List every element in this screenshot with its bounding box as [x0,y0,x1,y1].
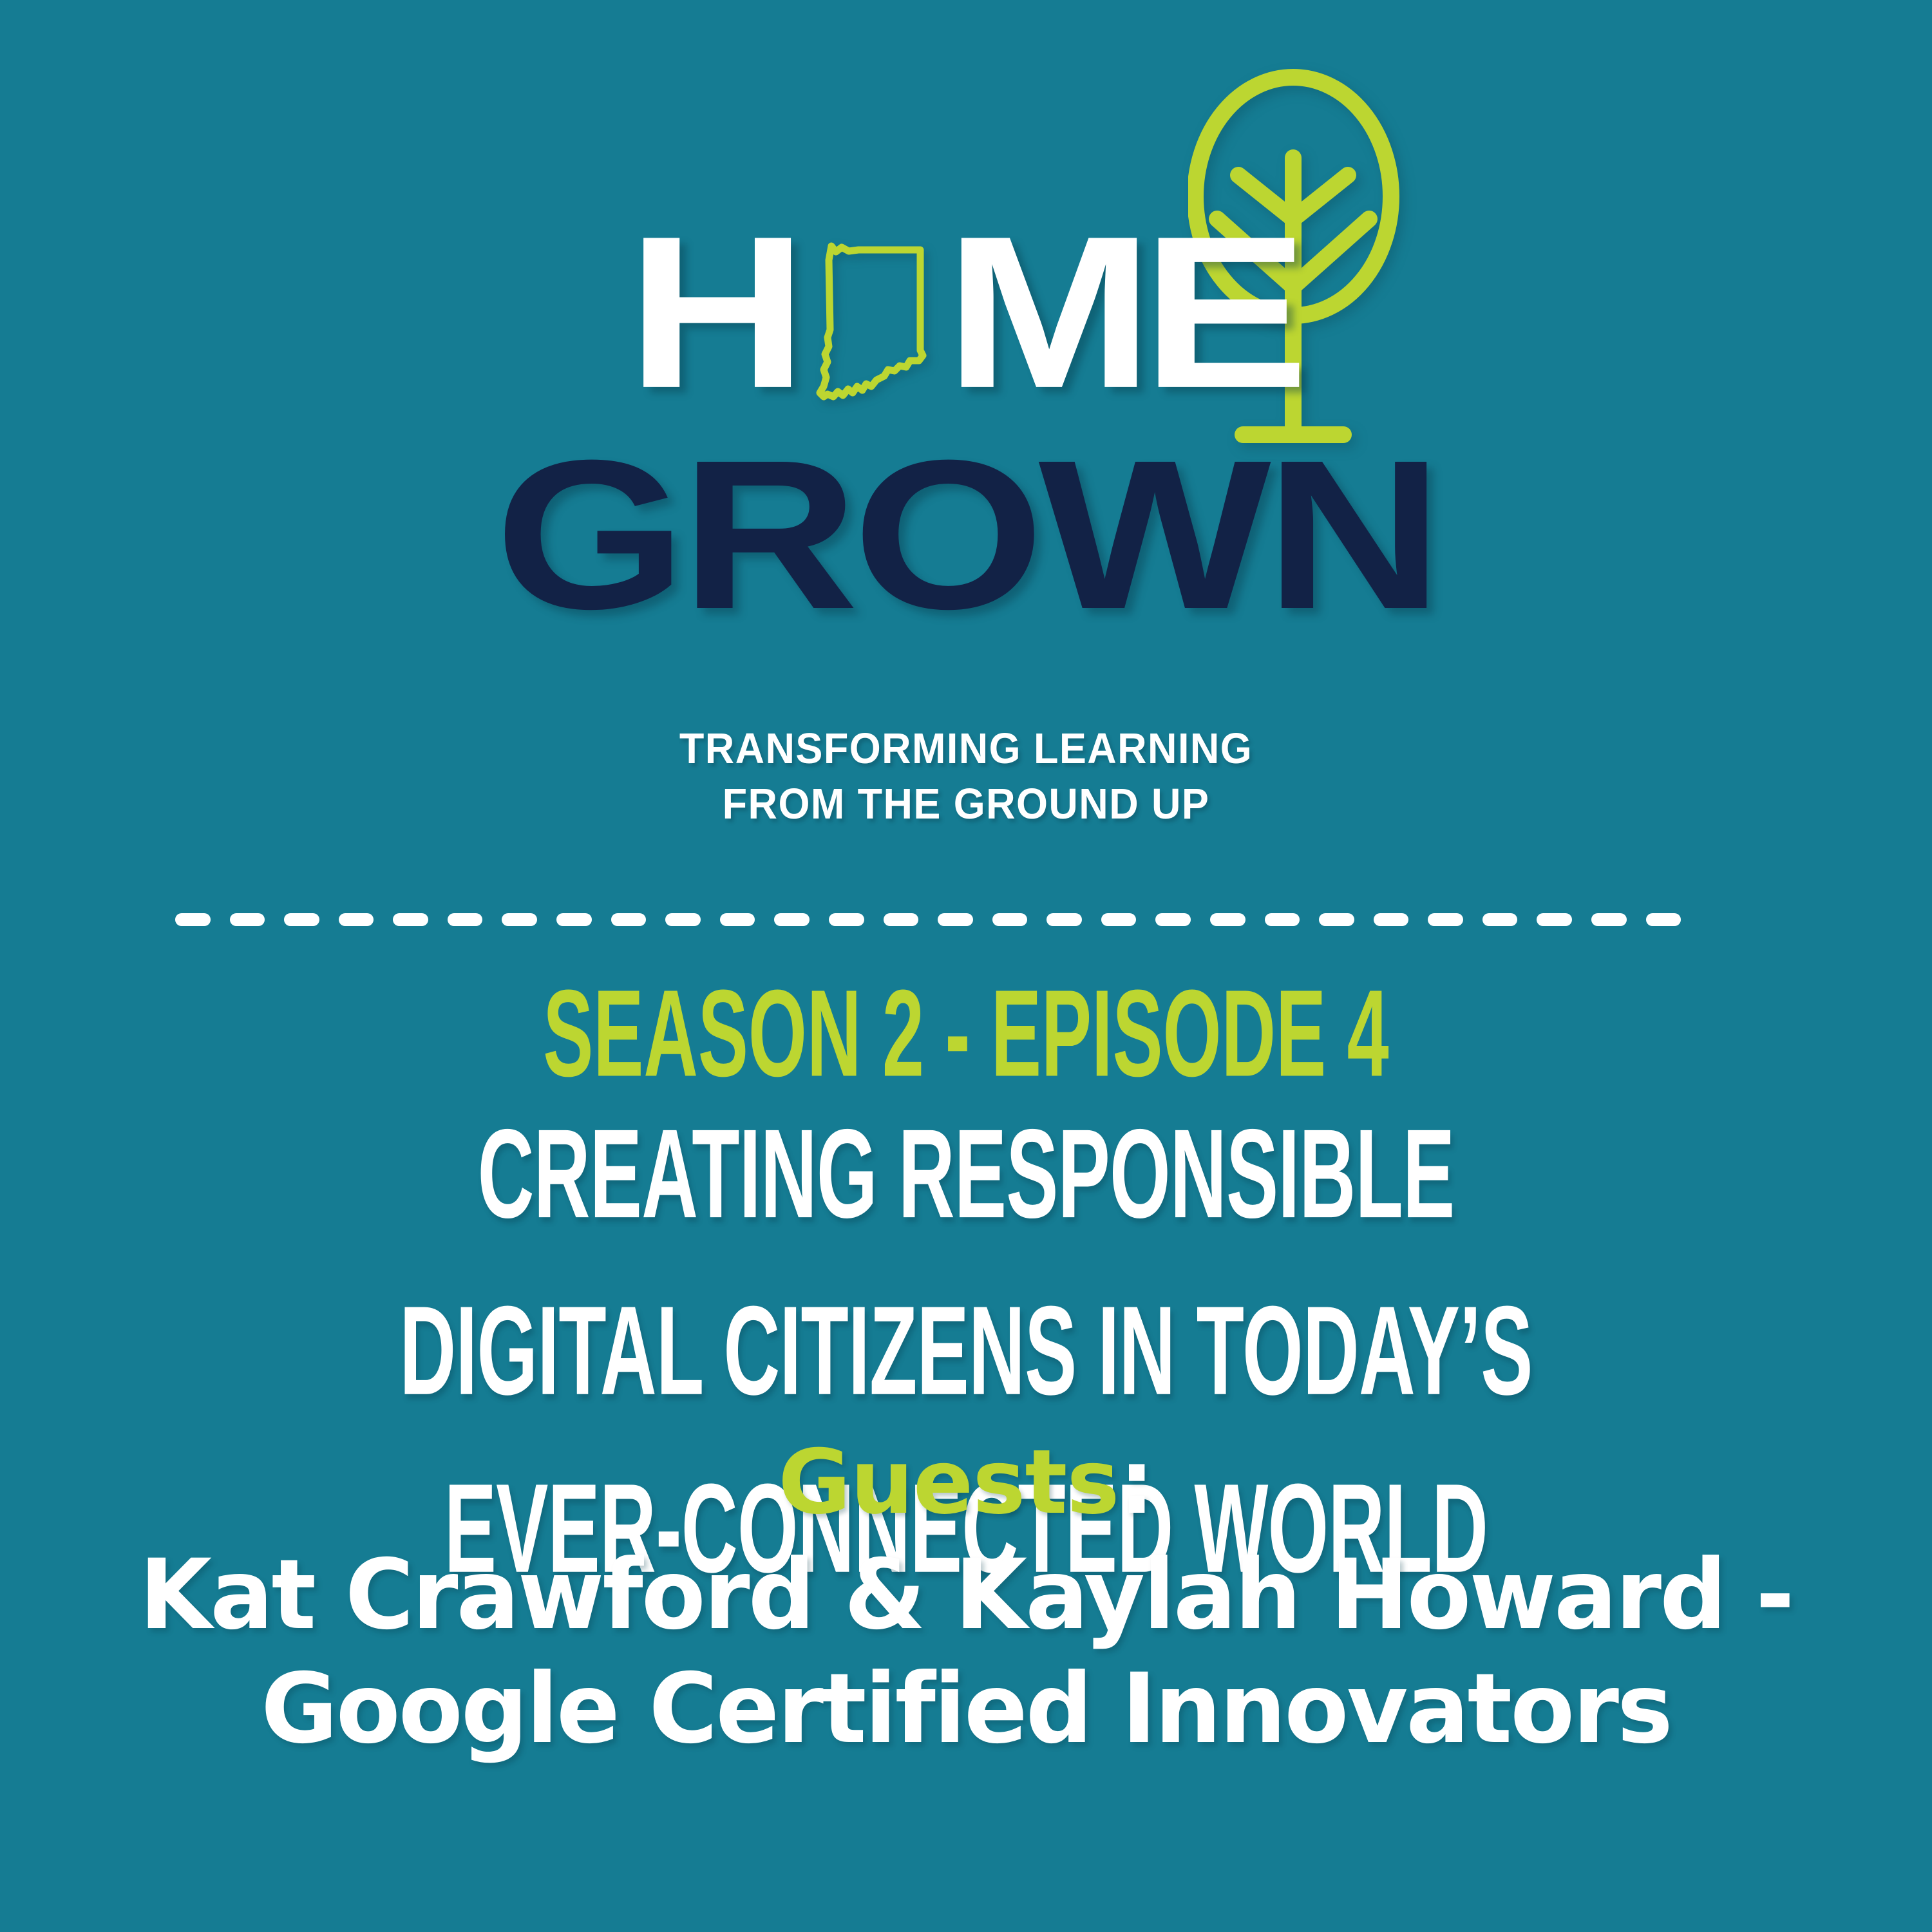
divider-dash [502,913,537,926]
logo-block: H M E GROWN [0,58,1932,702]
divider-dash [992,913,1028,926]
guests-label-colon: : [1119,1430,1154,1534]
divider-dash [284,913,319,926]
divider-dash [774,913,810,926]
divider-dash [720,913,755,926]
divider-dash [1101,913,1137,926]
divider-dash [339,913,374,926]
episode-title-line-2: DIGITAL CITIZENS IN TODAY’S [213,1263,1719,1440]
home-letter-h: H [627,225,803,399]
guests-block: Guests: Kat Crawford & Kaylah Howard - G… [0,1436,1932,1766]
tagline-line-2: FROM THE GROUND UP [58,777,1874,832]
home-letter-m: M [944,225,1148,399]
divider-dash [1046,913,1082,926]
divider-dash [1155,913,1191,926]
tagline: TRANSFORMING LEARNING FROM THE GROUND UP [58,721,1874,832]
divider-dash [1428,913,1463,926]
divider-dash [393,913,428,926]
divider-dash [556,913,592,926]
divider-dash [1537,913,1572,926]
divider-dash [230,913,265,926]
divider-dash [884,913,919,926]
podcast-cover-art: H M E GROWN TRANSFORMING LEARNING FROM T… [0,0,1932,1932]
guest-names-line-1: Kat Crawford & Kaylah Howard - [29,1539,1903,1653]
divider-dash [665,913,701,926]
guests-label: Guests: [0,1436,1932,1529]
divider-dash [1319,913,1354,926]
guest-names: Kat Crawford & Kaylah Howard - Google Ce… [29,1539,1903,1766]
divider-dash [938,913,973,926]
home-wordmark: H M E [0,225,1932,419]
dashed-divider [175,913,1681,926]
episode-block: SEASON 2 - EPISODE 4 CREATING RESPONSIBL… [0,971,1932,1508]
divider-dash [829,913,864,926]
tagline-line-1: TRANSFORMING LEARNING [58,721,1874,777]
divider-dash [1374,913,1409,926]
guests-label-word: Guests [778,1430,1119,1534]
season-episode-label: SEASON 2 - EPISODE 4 [213,971,1719,1095]
divider-dash [175,913,211,926]
divider-dash [1210,913,1245,926]
divider-dash [1482,913,1518,926]
divider-dash [448,913,483,926]
episode-title-line-1: CREATING RESPONSIBLE [213,1086,1719,1263]
divider-dash [1591,913,1627,926]
guest-names-line-2: Google Certified Innovators [29,1653,1903,1766]
divider-dash [1265,913,1300,926]
divider-dash [611,913,647,926]
divider-dash [1646,913,1681,926]
grown-wordmark: GROWN [0,441,1932,628]
home-letter-e: E [1141,225,1304,399]
indiana-state-outline-icon [812,234,941,407]
